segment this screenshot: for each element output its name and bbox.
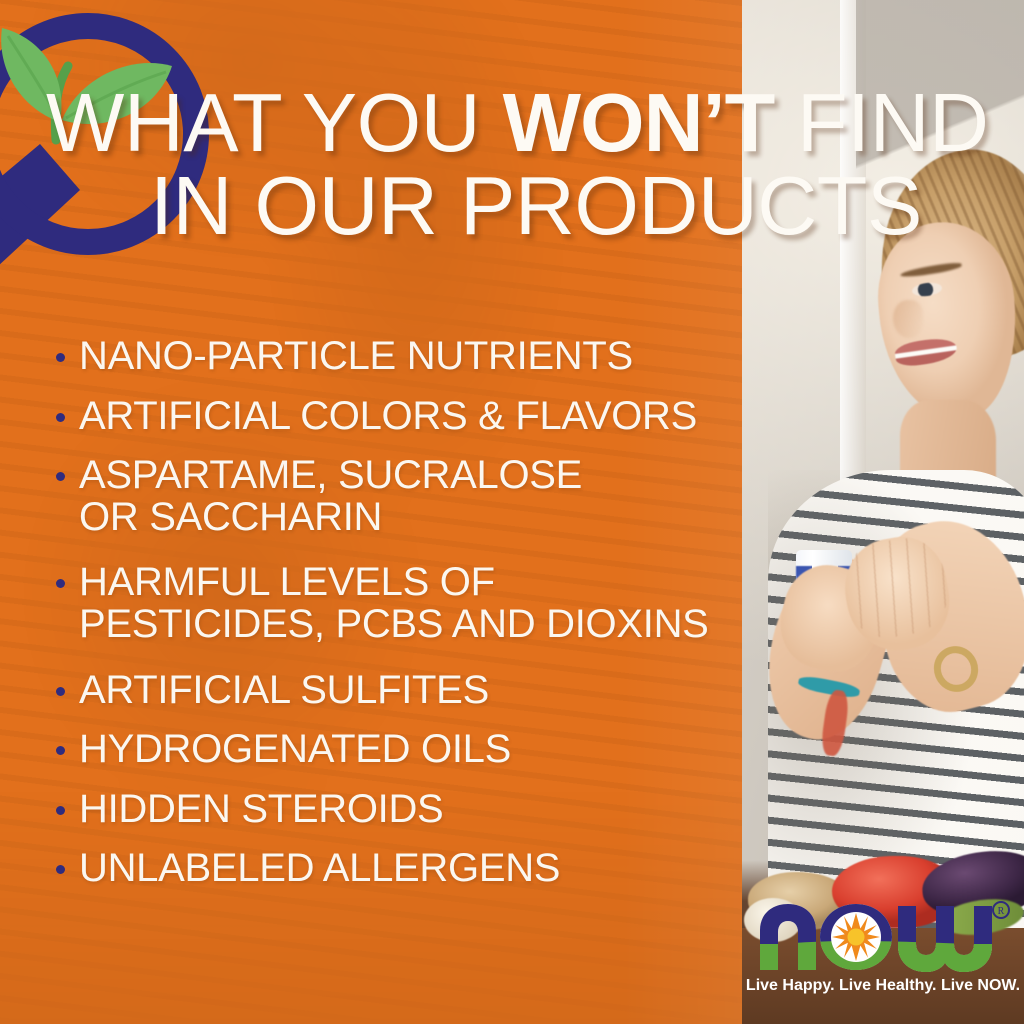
list-item: ASPARTAME, SUCRALOSE OR SACCHARIN [44, 455, 744, 538]
headline-line1-suffix: FIND [774, 76, 988, 169]
headline-line-1: WHAT YOU WON’T FIND [0, 86, 1010, 161]
list-item: HARMFUL LEVELS OF PESTICIDES, PCBS AND D… [44, 562, 744, 645]
logo-navy-band [752, 896, 1014, 944]
list-item: HYDROGENATED OILS [44, 729, 744, 771]
headline-line1-prefix: WHAT YOU [46, 76, 503, 169]
list-item: NANO-PARTICLE NUTRIENTS [44, 336, 744, 378]
svg-text:R: R [998, 906, 1005, 917]
woman-nose [893, 300, 923, 338]
list-item: ARTIFICIAL SULFITES [44, 670, 744, 712]
list-item: UNLABELED ALLERGENS [44, 848, 744, 890]
page-title: WHAT YOU WON’T FIND IN OUR PRODUCTS [0, 86, 1010, 243]
excluded-ingredients-list: NANO-PARTICLE NUTRIENTS ARTIFICIAL COLOR… [44, 336, 744, 908]
now-brand-logo: R Live Happy. Live Healthy. Live NOW. [752, 896, 1014, 994]
list-item: HIDDEN STEROIDS [44, 789, 744, 831]
registered-trademark-icon: R [993, 902, 1009, 918]
poster-canvas: WHAT YOU WON’T FIND IN OUR PRODUCTS NANO… [0, 0, 1024, 1024]
starburst-sun-icon [831, 912, 881, 962]
logo-tagline: Live Happy. Live Healthy. Live NOW. [746, 977, 1020, 994]
list-item: ARTIFICIAL COLORS & FLAVORS [44, 396, 744, 438]
headline-line-2: IN OUR PRODUCTS [0, 169, 1010, 244]
headline-emphasis-wont: WON’T [503, 76, 775, 169]
